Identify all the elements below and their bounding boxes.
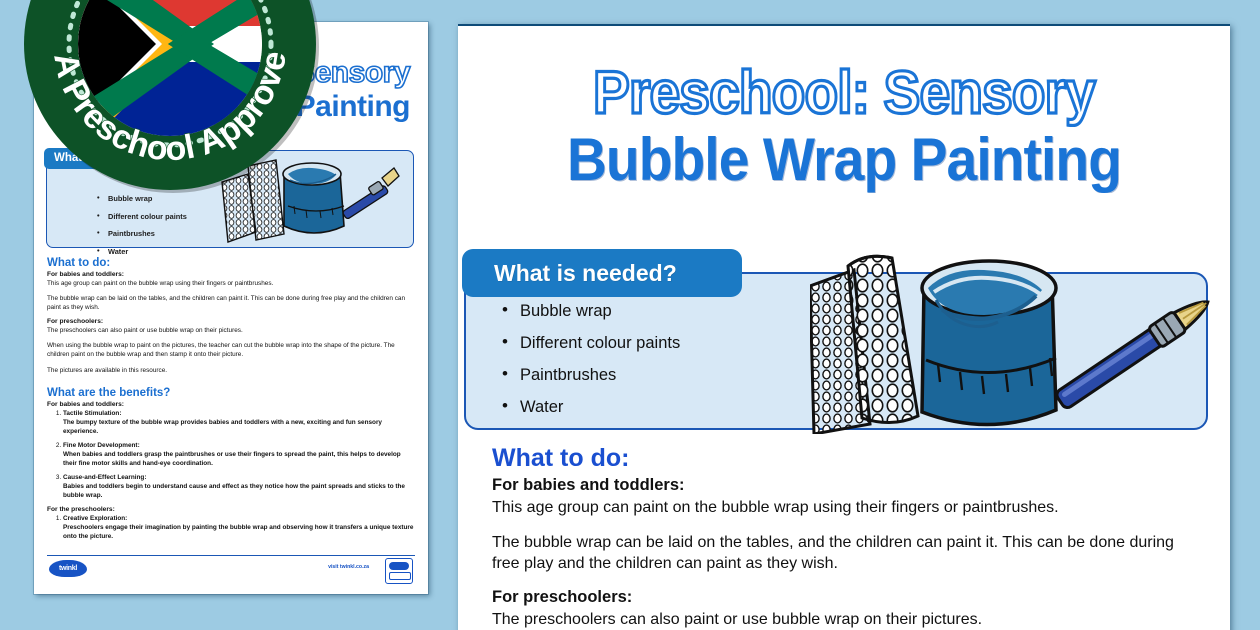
benefit-title: Tactile Stimulation: (63, 409, 415, 418)
thumbnail-materials-list: Bubble wrap Different colour paints Pain… (68, 194, 187, 264)
thumbnail-benefits-heading: What are the benefits? (47, 387, 415, 399)
preview-document-page[interactable]: Preschool: Sensory Bubble Wrap Painting … (458, 24, 1230, 630)
screenshot-stage: Preschool: Sensory Bubble Wrap Painting … (0, 0, 1260, 630)
thumbnail-preschoolers-p2: When using the bubble wrap to paint on t… (47, 341, 415, 359)
preview-body-content: What to do: For babies and toddlers: Thi… (492, 444, 1198, 630)
list-item: Bubble wrap (520, 302, 680, 321)
list-item: Paintbrushes (520, 366, 680, 385)
preview-preschoolers-heading: For preschoolers: (492, 588, 1198, 607)
thumbnail-benefits-babies-list: Tactile Stimulation: The bumpy texture o… (47, 409, 415, 501)
sa-preschool-approved-badge: SA Preschool Approved (18, 0, 322, 196)
twinkl-logo[interactable]: twinkl (49, 560, 87, 577)
thumbnail-babies-p2: The bubble wrap can be laid on the table… (47, 294, 415, 312)
list-item: Different colour paints (108, 212, 187, 221)
preview-babies-heading: For babies and toddlers: (492, 476, 1198, 495)
preview-title-line2: Bubble Wrap Painting (489, 129, 1199, 190)
thumbnail-body-content: What to do: For babies and toddlers: Thi… (47, 257, 415, 546)
preview-materials-list: Bubble wrap Different colour paints Pain… (520, 302, 680, 430)
preview-title: Preschool: Sensory Bubble Wrap Painting (458, 62, 1230, 190)
thumbnail-preschoolers-heading: For preschoolers: (47, 318, 415, 325)
benefit-title: Creative Exploration: (63, 514, 415, 523)
list-item: Different colour paints (520, 334, 680, 353)
preview-babies-p2: The bubble wrap can be laid on the table… (492, 532, 1198, 574)
list-item: Water (108, 247, 187, 256)
benefit-detail: When babies and toddlers grasp the paint… (63, 450, 415, 468)
thumbnail-benefits-preschoolers-heading: For the preschoolers: (47, 506, 415, 513)
thumbnail-preschoolers-p1: The preschoolers can also paint or use b… (47, 326, 415, 335)
preview-what-is-needed-tab: What is needed? (462, 249, 742, 297)
thumbnail-benefits-preschoolers-list: Creative Exploration: Preschoolers engag… (47, 514, 415, 541)
thumbnail-babies-heading: For babies and toddlers: (47, 271, 415, 278)
benefit-title: Fine Motor Development: (63, 441, 415, 450)
footer-url[interactable]: visit twinkl.co.za (328, 564, 369, 570)
benefit-detail: Preschoolers engage their imagination by… (63, 523, 415, 541)
twinkl-quality-badge-icon (385, 558, 413, 584)
thumbnail-babies-p1: This age group can paint on the bubble w… (47, 279, 415, 288)
benefit-detail: The bumpy texture of the bubble wrap pro… (63, 418, 415, 436)
list-item: Creative Exploration: Preschoolers engag… (63, 514, 415, 541)
thumbnail-benefits-babies-heading: For babies and toddlers: (47, 401, 415, 408)
list-item: Fine Motor Development: When babies and … (63, 441, 415, 468)
preview-babies-p1: This age group can paint on the bubble w… (492, 497, 1198, 518)
preview-title-line1: Preschool: Sensory (489, 62, 1199, 123)
footer-divider (47, 555, 415, 557)
list-item: Paintbrushes (108, 229, 187, 238)
preview-illustration (810, 248, 1220, 434)
list-item: Tactile Stimulation: The bumpy texture o… (63, 409, 415, 436)
list-item: Cause-and-Effect Learning: Babies and to… (63, 473, 415, 500)
thumbnail-footer: twinkl visit twinkl.co.za (47, 558, 415, 584)
preview-what-to-do-heading: What to do: (492, 444, 1198, 473)
badge-top-bar (389, 562, 409, 570)
benefit-detail: Babies and toddlers begin to understand … (63, 482, 415, 500)
thumbnail-preschoolers-p3: The pictures are available in this resou… (47, 366, 415, 375)
badge-bottom-bar (389, 572, 411, 580)
list-item: Water (520, 398, 680, 417)
preview-preschoolers-p1: The preschoolers can also paint or use b… (492, 609, 1198, 630)
benefit-title: Cause-and-Effect Learning: (63, 473, 415, 482)
